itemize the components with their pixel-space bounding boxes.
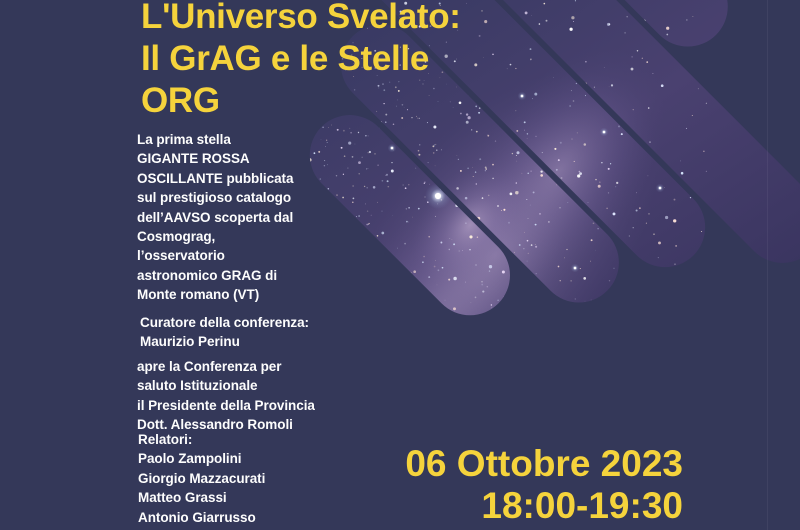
curator-name: Maurizio Perinu <box>140 332 350 351</box>
intro-paragraph: La prima stella GIGANTE ROSSA OSCILLANTE… <box>137 130 337 305</box>
institution-line: apre la Conferenza per <box>137 357 352 376</box>
title-line-2: Il GrAG e le Stelle <box>141 38 561 80</box>
event-time-block: 18:00-19:30 <box>0 485 683 527</box>
event-poster: L'Universo Svelato: Il GrAG e le Stelle … <box>0 0 800 530</box>
intro-line: l’osservatorio <box>137 246 337 265</box>
intro-line: GIGANTE ROSSA <box>137 149 337 168</box>
event-date: 06 Ottobre 2023 <box>405 443 683 484</box>
institution-line: saluto Istituzionale <box>137 376 352 395</box>
intro-line: Monte romano (VT) <box>137 285 337 304</box>
curator-label: Curatore della conferenza: <box>140 313 350 332</box>
event-date-block: 06 Ottobre 2023 <box>0 443 683 485</box>
intro-line: astronomico GRAG di <box>137 266 337 285</box>
intro-line: dell’AAVSO scoperta dal <box>137 208 337 227</box>
intro-line: OSCILLANTE pubblicata <box>137 169 337 188</box>
institution-line: il Presidente della Provincia <box>137 396 352 415</box>
intro-line: La prima stella <box>137 130 337 149</box>
event-time: 18:00-19:30 <box>481 485 683 526</box>
title-line-1: L'Universo Svelato: <box>141 0 561 38</box>
institution-section: apre la Conferenza per saluto Istituzion… <box>137 357 352 435</box>
poster-title: L'Universo Svelato: Il GrAG e le Stelle … <box>141 0 561 122</box>
intro-line: Cosmograg, <box>137 227 337 246</box>
title-line-3: ORG <box>141 80 561 122</box>
intro-line: sul prestigioso catalogo <box>137 188 337 207</box>
canvas-seam <box>767 0 768 530</box>
curator-section: Curatore della conferenza: Maurizio Peri… <box>140 313 350 352</box>
